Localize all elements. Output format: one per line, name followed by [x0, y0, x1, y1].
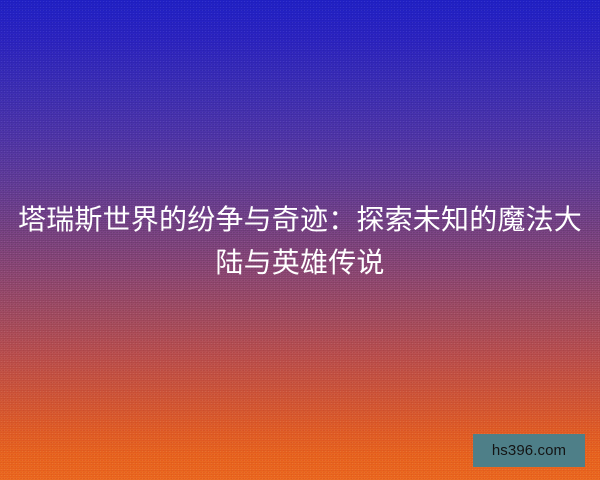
watermark-label: hs396.com: [492, 443, 566, 458]
watermark-badge: hs396.com: [473, 434, 585, 467]
poster-title: 塔瑞斯世界的纷争与奇迹：探索未知的魔法大陆与英雄传说: [0, 198, 600, 284]
poster-canvas: 塔瑞斯世界的纷争与奇迹：探索未知的魔法大陆与英雄传说 hs396.com: [0, 0, 600, 480]
